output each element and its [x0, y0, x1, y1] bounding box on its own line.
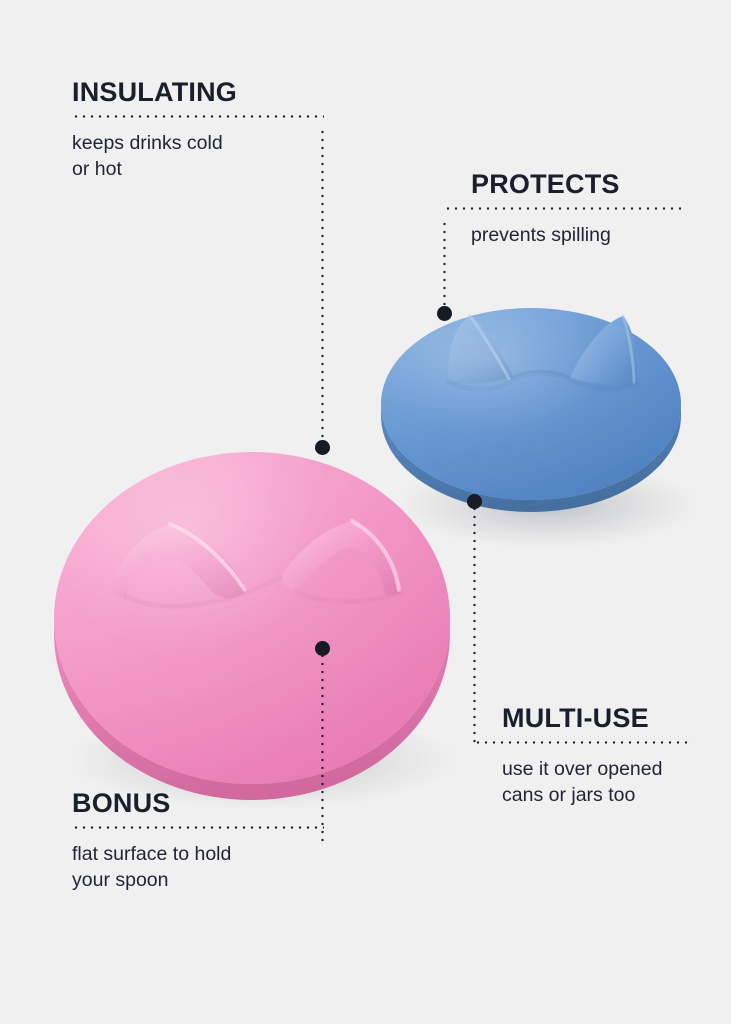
callout-body-multi-use: use it over opened cans or jars too	[474, 744, 693, 808]
connector-dot-insulating	[315, 440, 330, 455]
pink-lid-product	[54, 452, 458, 810]
connector-dot-protects	[437, 306, 452, 321]
callout-heading-bonus: BONUS	[72, 789, 324, 817]
callout-protects: PROTECTS prevents spilling	[444, 170, 682, 249]
callout-body-protects: prevents spilling	[444, 210, 682, 248]
connector-dot-bonus	[315, 641, 330, 656]
blue-lid-product	[381, 308, 700, 549]
callout-heading-insulating: INSULATING	[72, 78, 324, 106]
callout-insulating: INSULATING keeps drinks cold or hot	[72, 78, 324, 182]
product-feature-infographic: INSULATING keeps drinks cold or hot PROT…	[0, 0, 731, 1024]
callout-heading-multi-use: MULTI-USE	[474, 704, 693, 732]
callout-multi-use: MULTI-USE use it over opened cans or jar…	[474, 704, 693, 808]
callout-heading-protects: PROTECTS	[444, 170, 682, 198]
callout-bonus: BONUS flat surface to hold your spoon	[72, 789, 324, 893]
callout-body-bonus: flat surface to hold your spoon	[72, 829, 324, 893]
connector-dot-multi-use	[467, 494, 482, 509]
callout-body-insulating: keeps drinks cold or hot	[72, 118, 324, 182]
